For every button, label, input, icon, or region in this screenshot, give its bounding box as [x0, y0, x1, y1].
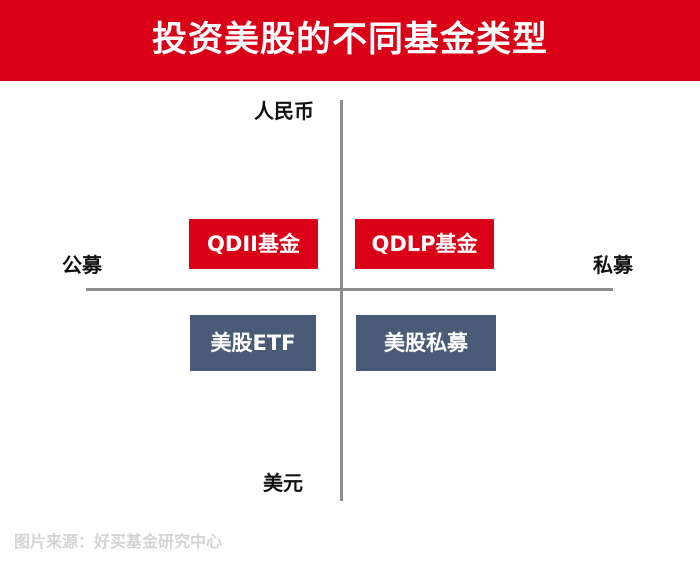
matrix-item-us-stock-private-fund: 美股私募: [356, 315, 496, 371]
source-attribution: 图片来源：好买基金研究中心: [14, 534, 222, 550]
matrix-item-us-stock-etf: 美股ETF: [190, 315, 316, 371]
matrix-item-qdii-fund: QDII基金: [189, 219, 318, 269]
axis-label-public-offering: 公募: [62, 255, 102, 275]
matrix-item-label: QDLP基金: [371, 234, 477, 255]
page-title: 投资美股的不同基金类型: [152, 23, 548, 58]
axis-label-currency-usd: 美元: [263, 473, 303, 493]
infographic-canvas: 投资美股的不同基金类型 人民币 美元 公募 私募 QDII基金 QDLP基金 美…: [0, 0, 700, 566]
title-banner: 投资美股的不同基金类型: [0, 0, 700, 81]
matrix-item-label: QDII基金: [207, 234, 300, 255]
axis-label-currency-rmb: 人民币: [254, 101, 314, 121]
axis-label-private-placement: 私募: [593, 255, 633, 275]
vertical-axis-line: [340, 100, 343, 501]
matrix-item-qdlp-fund: QDLP基金: [355, 219, 494, 269]
matrix-item-label: 美股ETF: [210, 333, 295, 354]
matrix-item-label: 美股私募: [384, 333, 468, 354]
horizontal-axis-line: [86, 288, 613, 291]
